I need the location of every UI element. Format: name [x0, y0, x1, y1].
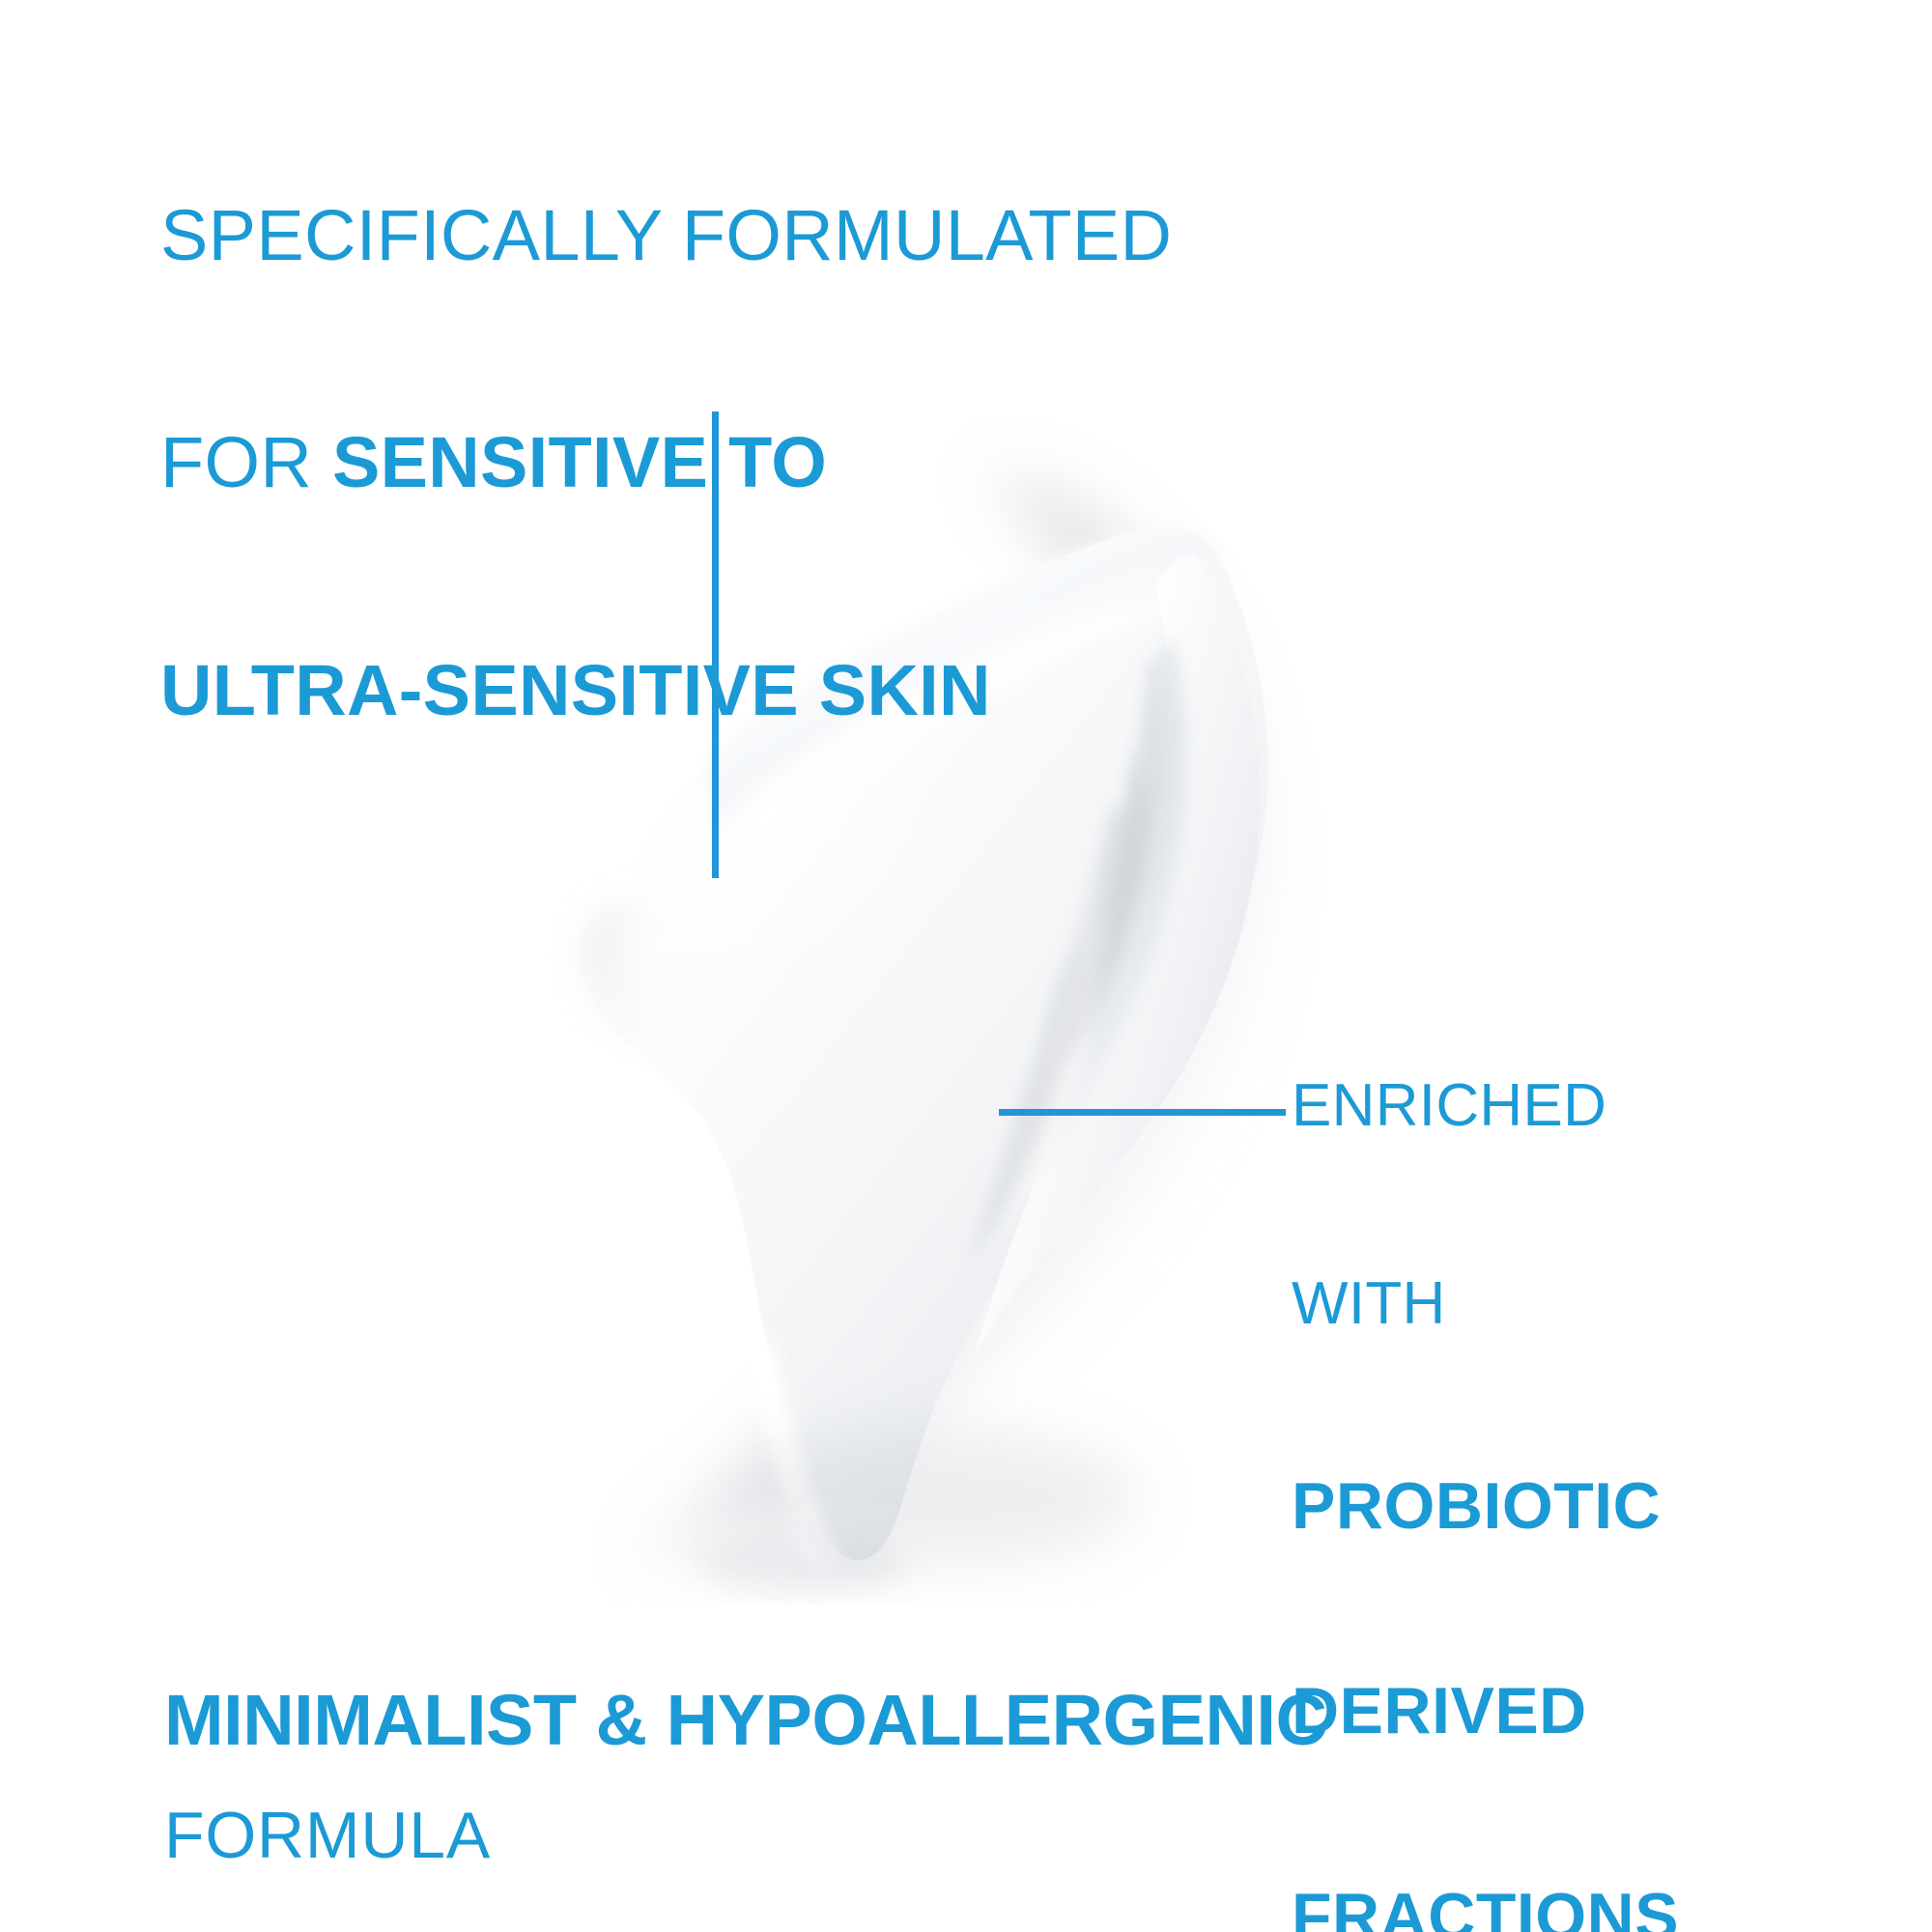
headline-sensitive-skin: SPECIFICALLY FORMULATED FOR SENSITIVE TO…: [160, 46, 1172, 880]
callout-minimalist-formula: MINIMALIST & HYPOALLERGENIC FORMULA: [164, 1648, 1326, 1911]
callout-probiotic-line-4: DERIVED: [1292, 1674, 1679, 1747]
headline-line-1: SPECIFICALLY FORMULATED: [160, 198, 1172, 273]
callout-probiotic-line-3: PROBIOTIC: [1292, 1469, 1679, 1543]
leader-line-right-horizontal: [999, 1109, 1286, 1116]
headline-line-2-light: FOR: [160, 422, 332, 502]
callout-probiotic-line-1: ENRICHED: [1292, 1073, 1679, 1139]
callout-minimalist-line-1: MINIMALIST & HYPOALLERGENIC: [164, 1681, 1326, 1761]
marketing-infographic: SPECIFICALLY FORMULATED FOR SENSITIVE TO…: [0, 0, 1932, 1932]
callout-minimalist-line-2: FORMULA: [164, 1794, 1326, 1878]
headline-line-2-bold: SENSITIVE TO: [332, 422, 827, 502]
callout-probiotic-line-2: WITH: [1292, 1271, 1679, 1337]
headline-line-2: FOR SENSITIVE TO: [160, 425, 1172, 500]
callout-probiotic: ENRICHED WITH PROBIOTIC DERIVED FRACTION…: [1292, 942, 1679, 1932]
callout-probiotic-line-5: FRACTIONS: [1292, 1880, 1679, 1932]
headline-line-3: ULTRA-SENSITIVE SKIN: [160, 653, 1172, 728]
